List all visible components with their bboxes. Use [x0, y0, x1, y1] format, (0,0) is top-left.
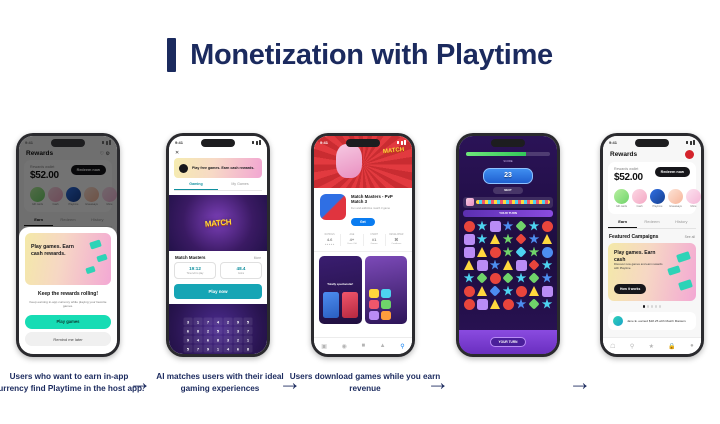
tabbar-today-icon[interactable]: ▣ [321, 343, 327, 350]
balance-card: Rewards wallet $52.00 Redeem now Gift ca… [608, 162, 696, 214]
score-badge: 23 [483, 168, 533, 184]
screenshots: Totally spectacular! [314, 252, 412, 324]
more-link[interactable]: More [254, 256, 261, 260]
play-now-button[interactable]: Play now [174, 284, 262, 299]
step-1: 9:41 Rewards ♡ ⚙ Reward [8, 133, 128, 373]
playtime-screen: 9:41 ✕ Play free games. Earn cash reward… [169, 136, 267, 354]
title-accent-bar [167, 38, 176, 72]
progress-bar [466, 152, 550, 156]
status-time: 9:41 [25, 140, 33, 145]
next-label: NEXT [493, 187, 523, 194]
tab-my-games[interactable]: My Games [218, 182, 262, 190]
game-name: Match Masters [175, 255, 206, 260]
page-title: Monetization with Playtime [0, 38, 720, 72]
screenshot-2[interactable] [365, 256, 408, 324]
explore-icon[interactable]: ⚲ [630, 343, 634, 350]
redeem-button[interactable]: Redeem now [655, 167, 690, 177]
gameplay-screen: SCORE 23 NEXT YOUR TURN [459, 136, 557, 354]
see-all-link[interactable]: See all [685, 235, 695, 239]
stat-card: 19:12 Time left to play [174, 262, 216, 279]
featured-section-header: Featured Campaigns See all [603, 229, 701, 243]
turn-indicator: YOUR TURN [463, 210, 553, 217]
tab-redeem[interactable]: Redeem [637, 219, 666, 228]
phone-mockup-1: 9:41 Rewards ♡ ⚙ Reward [16, 133, 120, 357]
activity-row[interactable]: Jane E. earned $18.25 with Match Masters [608, 312, 696, 330]
play-games-button[interactable]: Play games [25, 315, 111, 329]
tabbar-games-icon[interactable]: ◉ [342, 343, 347, 350]
notch [491, 139, 525, 147]
app-store-tabbar: ▣ ◉ ■ ▲ ⚲ [314, 337, 412, 354]
rewards-icon[interactable]: ★ [649, 343, 654, 350]
caption-3: Users download games while you earn reve… [288, 371, 442, 396]
rewards-title: Rewards [610, 151, 637, 158]
step-4: SCORE 23 NEXT YOUR TURN [448, 133, 568, 373]
stat-developer: DEVELOPER ⌘ Candivore [386, 234, 407, 247]
tab-earn[interactable]: Earn [608, 219, 637, 228]
avatar[interactable] [685, 150, 694, 159]
rewards-header: Rewards [603, 149, 701, 162]
screenshot-caption: Totally spectacular! [319, 282, 362, 286]
modal-hero-text: Play games. Earn cash rewards. [31, 244, 77, 258]
status-time: 9:41 [320, 140, 328, 145]
phone-mockup-5: 9:41 Rewards Rewards w [600, 133, 704, 357]
category-item: More [686, 189, 701, 208]
phone-mockup-3: 9:41 MATCH Match Masters - PvP [311, 133, 415, 357]
number-grid: 3174295 6825137 9468321 5791468 [184, 318, 253, 353]
score-label: SCORE [459, 160, 557, 163]
status-icons [252, 140, 261, 145]
app-store-screen: 9:41 MATCH Match Masters - PvP [314, 136, 412, 354]
rewards-tabs: Earn Redeem History [608, 219, 696, 229]
tabbar-apps-icon[interactable]: ■ [361, 343, 365, 349]
app-info: Match Masters - PvP Match 3 Fun and addi… [314, 188, 412, 228]
profile-icon[interactable]: ● [690, 343, 694, 349]
close-icon[interactable]: ✕ [169, 149, 267, 158]
wallet-icon[interactable]: 🔒 [668, 343, 675, 350]
category-item: Playtime [650, 189, 665, 208]
modal-title: Keep the rewards rolling! [25, 291, 111, 297]
step-2: 9:41 ✕ Play free games. Earn cash reward… [158, 133, 278, 373]
modal-body: Keep earning in-app currency while playi… [25, 300, 111, 308]
status-icons [397, 140, 406, 145]
phone-mockup-2: 9:41 ✕ Play free games. Earn cash reward… [166, 133, 270, 357]
notch [635, 139, 669, 147]
promo-card[interactable]: Play games. Earn cash Discover new games… [608, 243, 696, 301]
modal-hero: Play games. Earn cash rewards. [25, 233, 111, 285]
carousel-dots[interactable] [603, 305, 701, 307]
notch [201, 139, 235, 147]
app-subtitle: Fun and addictive match 3 game [351, 207, 406, 210]
playtime-tabs: Gaming My Games [174, 182, 262, 191]
tab-history[interactable]: History [667, 219, 696, 228]
tab-gaming[interactable]: Gaming [174, 182, 218, 190]
category-item: Gift cards [614, 189, 629, 208]
balance-label: Rewards wallet [614, 167, 643, 171]
notch [346, 139, 380, 147]
opponent-strip [463, 197, 553, 208]
notch [51, 139, 85, 147]
game-name-row: Match Masters More [169, 251, 267, 262]
section-title: Featured Campaigns [609, 234, 658, 240]
stat-ratings: RATINGS 4.6 ★★★★★ [319, 234, 341, 247]
start-button[interactable]: YOUR TURN [490, 337, 527, 347]
app-icon [320, 194, 346, 220]
caption-2: AI matches users with their ideal gaming… [143, 371, 297, 396]
activity-text: Jane E. earned $18.25 with Match Masters [627, 319, 691, 323]
stat-age: AGE 4+ Years Old [341, 234, 363, 247]
game-stats: 19:12 Time left to play 48.4 Coins [169, 262, 267, 279]
step-5: 9:41 Rewards Rewards w [592, 133, 712, 373]
phone-screen-3: 9:41 MATCH Match Masters - PvP [314, 136, 412, 354]
status-time: 9:41 [175, 140, 183, 145]
category-item: Giveaways [668, 189, 683, 208]
gameplay-footer: YOUR TURN [459, 330, 557, 354]
rewards-screen-final: 9:41 Rewards Rewards w [603, 136, 701, 354]
phone-mockup-4: SCORE 23 NEXT YOUR TURN [456, 133, 560, 357]
banner-text: Play free games. Earn cash rewards. [192, 166, 254, 171]
phone-screen-5: 9:41 Rewards Rewards w [603, 136, 701, 354]
match3-board[interactable] [459, 221, 557, 310]
hero-character [336, 144, 362, 178]
remind-later-button[interactable]: Remind me later [25, 332, 111, 346]
status-icons [102, 140, 111, 145]
how-it-works-button[interactable]: How it works [614, 284, 646, 294]
game-preview-grid: 3174295 6825137 9468321 5791468 [169, 304, 267, 354]
status-time: 9:41 [609, 140, 617, 145]
get-button[interactable]: Get [351, 218, 375, 226]
tabbar-arcade-icon[interactable]: ▲ [380, 343, 386, 349]
caption-1: Users who want to earn in-app currency f… [0, 371, 146, 396]
screenshot-1[interactable]: Totally spectacular! [319, 256, 362, 324]
app-tabbar: ☖ ⚲ ★ 🔒 ● [603, 337, 701, 354]
promo-artwork [650, 251, 694, 297]
stat-card: 48.4 Coins [220, 262, 262, 279]
phone-screen-1: 9:41 Rewards ♡ ⚙ Reward [19, 136, 117, 354]
step-3: 9:41 MATCH Match Masters - PvP [303, 133, 423, 373]
playtime-logo-icon [179, 164, 188, 173]
category-item: Cash [632, 189, 647, 208]
phone-screen-2: 9:41 ✕ Play free games. Earn cash reward… [169, 136, 267, 354]
match-badge: MATCH [205, 217, 232, 228]
playtime-banner: Play free games. Earn cash rewards. [174, 158, 262, 178]
arrow-4-to-5: → [566, 369, 594, 395]
phone-screen-4: SCORE 23 NEXT YOUR TURN [459, 136, 557, 354]
home-icon[interactable]: ☖ [610, 343, 615, 350]
playtime-modal: Play games. Earn cash rewards. Keep the … [19, 227, 117, 354]
status-icons [686, 140, 695, 145]
title-text: Monetization with Playtime [190, 39, 553, 72]
flow-diagram: 9:41 Rewards ♡ ⚙ Reward [0, 133, 720, 373]
balance-amount: $52.00 [614, 172, 643, 183]
stat-chart: CHART #1 Games [364, 234, 386, 247]
category-row: Gift cards Cash Playtime Giveaways More [614, 189, 690, 208]
tabbar-search-icon[interactable]: ⚲ [400, 343, 404, 350]
app-stats: RATINGS 4.6 ★★★★★ AGE 4+ Years Old CHART [314, 228, 412, 253]
activity-icon [613, 316, 623, 326]
app-title: Match Masters - PvP Match 3 [351, 194, 406, 205]
slide-root: Monetization with Playtime 9:41 [0, 0, 720, 424]
game-hero-image[interactable]: MATCH [169, 195, 267, 251]
